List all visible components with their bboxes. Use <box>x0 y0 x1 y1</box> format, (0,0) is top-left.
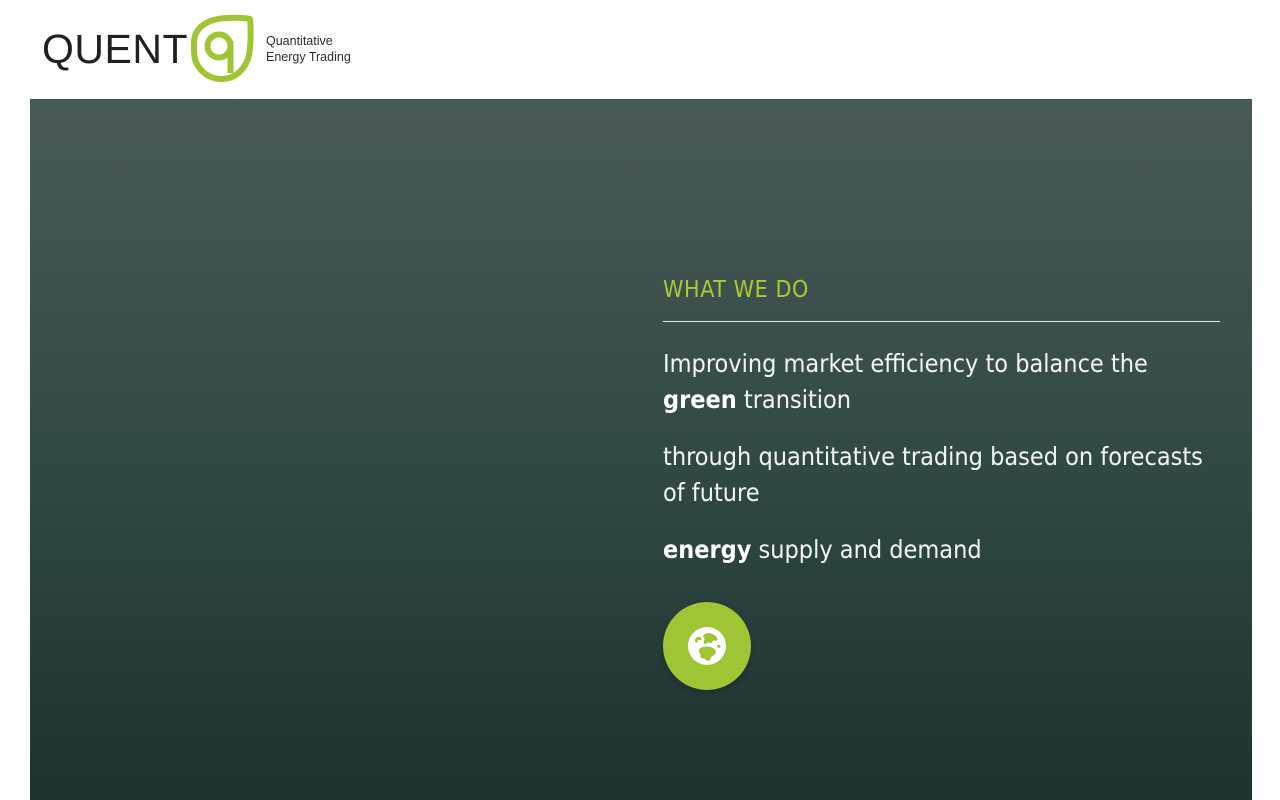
hero-paragraph-2: through quantitative trading based on fo… <box>663 439 1220 511</box>
section-title: WHAT WE DO <box>663 278 1220 303</box>
hero-paragraph-1: Improving market efficiency to balance t… <box>663 346 1220 418</box>
hero-paragraph-1-after: transition <box>737 385 851 414</box>
brand-logo[interactable]: QUENT Quantitative Energy Trading <box>42 13 351 85</box>
hero-paragraph-2-before: through quantitative trading based on fo… <box>663 442 1203 507</box>
hero-paragraph-3: energy supply and demand <box>663 532 1220 568</box>
leaf-q-logo-icon <box>186 13 258 85</box>
logo-tagline: Quantitative Energy Trading <box>266 33 351 65</box>
logo-tagline-line2: Energy Trading <box>266 50 351 64</box>
globe-icon <box>683 622 731 670</box>
globe-badge[interactable] <box>663 602 751 690</box>
title-divider <box>663 321 1220 322</box>
logo-wordmark: QUENT <box>42 29 188 70</box>
logo-tagline-line1: Quantitative <box>266 34 333 48</box>
page-header: QUENT Quantitative Energy Trading <box>0 0 1280 99</box>
hero-content: WHAT WE DO Improving market efficiency t… <box>663 278 1220 690</box>
hero-paragraph-3-emphasis: energy <box>663 535 751 564</box>
hero-paragraph-3-after: supply and demand <box>751 535 981 564</box>
hero-panel: WHAT WE DO Improving market efficiency t… <box>30 99 1252 800</box>
hero-paragraph-1-emphasis: green <box>663 385 737 414</box>
hero-paragraph-1-before: Improving market efficiency to balance t… <box>663 349 1148 378</box>
